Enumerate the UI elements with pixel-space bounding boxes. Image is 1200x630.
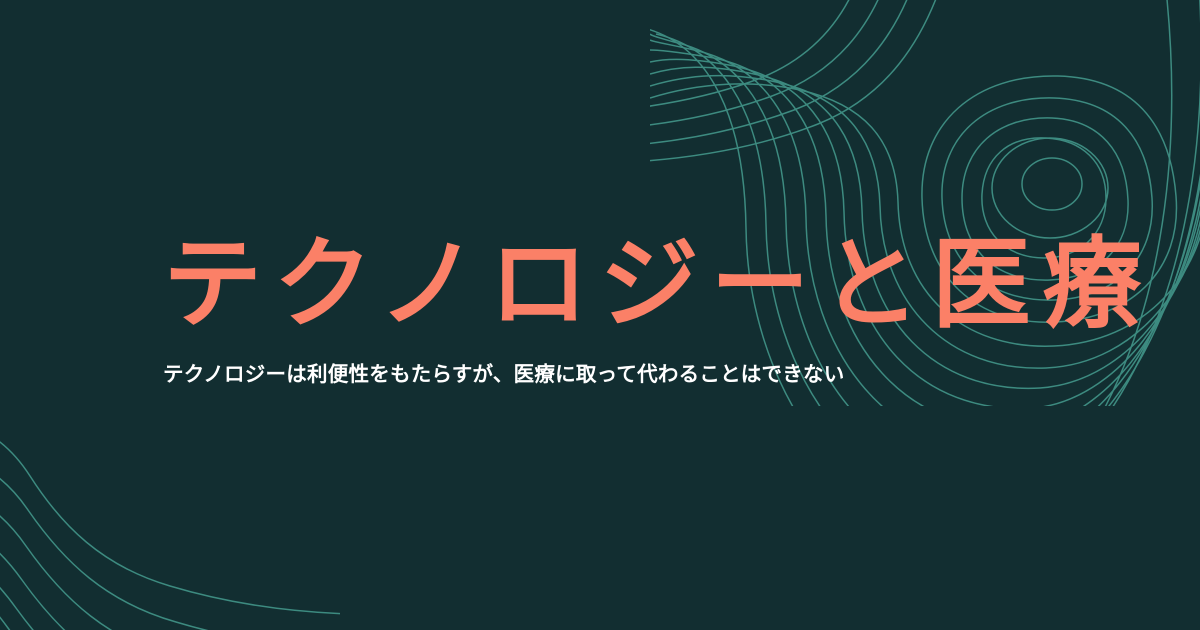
contour-line-bl-6 bbox=[0, 550, 340, 630]
contour-decoration-bottom-left bbox=[0, 360, 340, 630]
contour-lines-svg-bottom-left bbox=[0, 360, 340, 630]
page-subtitle: テクノロジーは利便性をもたらすが、医療に取って代わることはできない bbox=[163, 361, 1103, 389]
contour-line-19 bbox=[650, 0, 866, 110]
contour-line-bl-2 bbox=[0, 451, 340, 630]
hero-text-block: テクノロジーと医療 テクノロジーは利便性をもたらすが、医療に取って代わることはで… bbox=[163, 232, 1103, 389]
contour-line-bl-9 bbox=[0, 592, 340, 630]
contour-line-17 bbox=[650, 0, 922, 146]
contour-line-bl-7 bbox=[0, 563, 340, 630]
contour-ring-2 bbox=[992, 138, 1108, 238]
contour-line-bl-8 bbox=[0, 575, 340, 630]
contour-line-16 bbox=[650, 0, 950, 162]
contour-line-bl-4 bbox=[0, 512, 340, 630]
contour-line-bl-1 bbox=[0, 417, 340, 614]
contour-line-18 bbox=[650, 0, 894, 128]
contour-line-bl-5 bbox=[0, 535, 340, 630]
page-title: テクノロジーと医療 bbox=[163, 232, 1103, 339]
banner-canvas: テクノロジーと医療 テクノロジーは利便性をもたらすが、医療に取って代わることはで… bbox=[0, 0, 1200, 630]
contour-line-bl-3 bbox=[0, 483, 340, 630]
contour-ring-1 bbox=[1022, 158, 1082, 210]
contour-line-bl-10 bbox=[0, 612, 340, 630]
